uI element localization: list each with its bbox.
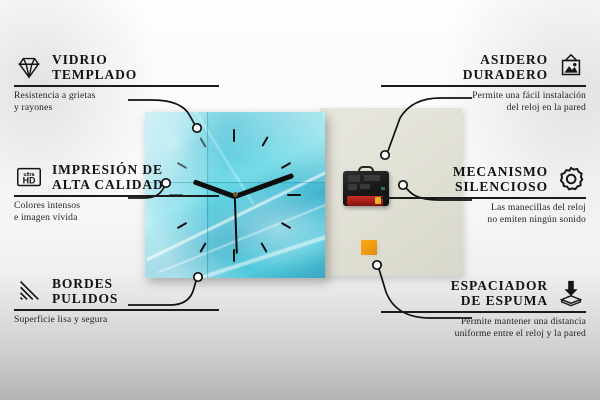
feature-title: ESPACIADOR DE ESPUMA [451,278,548,308]
feature-title: BORDES PULIDOS [52,276,118,306]
feature-mecanismo-silencioso: MECANISMO SILENCIOSO Las manecillas del … [381,164,586,225]
feature-title: VIDRIO TEMPLADO [52,52,137,82]
feature-header: MECANISMO SILENCIOSO [381,164,586,194]
feature-divider [381,197,586,199]
mechanism-detail [348,175,360,182]
gear-icon [556,164,586,194]
feature-description: Colores intensos e imagen vívida [14,200,219,223]
feature-header: ASIDERO DURADERO [381,52,586,82]
feature-description: Las manecillas del reloj no emiten ningú… [381,202,586,225]
feature-divider [14,309,219,311]
feature-vidrio-templado: VIDRIO TEMPLADO Resistencia a grietas y … [14,52,219,113]
feature-description: Permite mantener una distancia uniforme … [381,316,586,339]
hour-tick [233,129,235,142]
feature-header: VIDRIO TEMPLADO [14,52,219,82]
feature-title: ASIDERO DURADERO [463,52,548,82]
feature-description: Superficie lisa y segura [14,314,219,325]
feature-divider [381,311,586,313]
mechanism-detail [360,184,370,189]
feature-divider [381,85,586,87]
feature-asidero-duradero: ASIDERO DURADERO Permite una fácil insta… [381,52,586,113]
infographic-canvas: VIDRIO TEMPLADO Resistencia a grietas y … [0,0,600,400]
mechanism-detail [348,184,357,190]
diamond-icon [14,52,44,82]
foam-spacer-icon [556,278,586,308]
hour-tick [233,249,235,262]
ultra-hd-icon: ultra HD [14,162,44,192]
feature-bordes-pulidos: BORDES PULIDOS Superficie lisa y segura [14,276,219,326]
picture-frame-hanger-icon [556,52,586,82]
svg-text:HD: HD [23,176,36,186]
battery [347,196,383,206]
feature-espaciador-de-espuma: ESPACIADOR DE ESPUMA Permite mantener un… [381,278,586,339]
feature-divider [14,195,219,197]
feature-description: Resistencia a grietas y rayones [14,90,219,113]
feature-header: BORDES PULIDOS [14,276,219,306]
feature-title: MECANISMO SILENCIOSO [453,164,548,194]
mechanism-detail [364,175,380,181]
feature-impresion-alta-calidad: ultra HD IMPRESIÓN DE ALTA CALIDAD Color… [14,162,219,223]
feature-divider [14,85,219,87]
foam-spacer-product [361,240,377,255]
feature-header: ultra HD IMPRESIÓN DE ALTA CALIDAD [14,162,219,192]
polished-edges-icon [14,276,44,306]
feature-description: Permite una fácil instalación del reloj … [381,90,586,113]
feature-header: ESPACIADOR DE ESPUMA [381,278,586,308]
clock-center-pin [233,192,238,197]
feature-title: IMPRESIÓN DE ALTA CALIDAD [52,162,164,192]
